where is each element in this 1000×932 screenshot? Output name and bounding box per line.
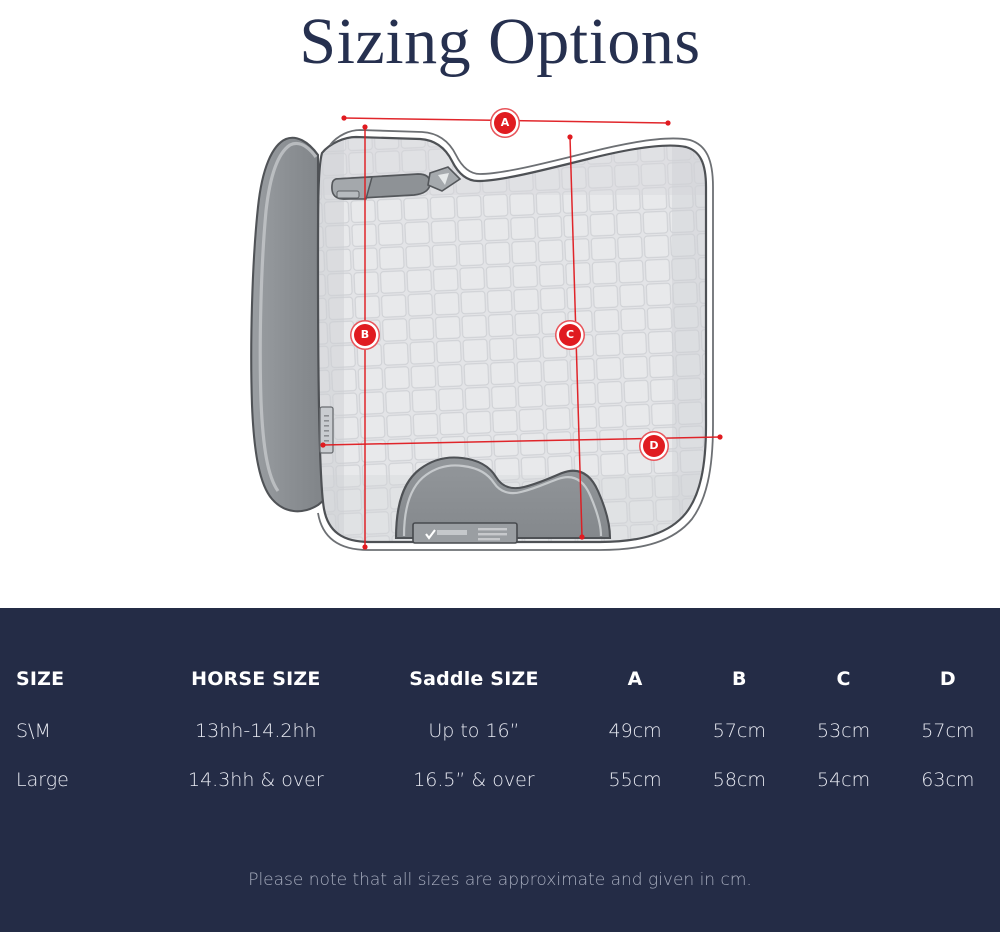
column-header-size: SIZE [0,668,147,720]
size-table-section: SIZE HORSE SIZE Saddle SIZE A B C D S\M … [0,608,1000,932]
cell-a: 49cm [583,720,687,769]
table-header-row: SIZE HORSE SIZE Saddle SIZE A B C D [0,668,1000,720]
column-header-c: C [791,668,895,720]
cell-c: 54cm [791,769,895,818]
cell-saddle-size: Up to 16” [365,720,583,769]
column-header-d: D [896,668,1000,720]
measurement-marker-d: D [643,435,665,457]
table-row: Large 14.3hh & over 16.5” & over 55cm 58… [0,769,1000,818]
cell-horse-size: 13hh-14.2hh [147,720,365,769]
cell-size: S\M [0,720,147,769]
cell-saddle-size: 16.5” & over [365,769,583,818]
page-title: Sizing Options [0,0,1000,88]
table-footnote: Please note that all sizes are approxima… [0,870,1000,890]
saddle-pad-diagram [0,95,1000,605]
cell-c: 53cm [791,720,895,769]
pad-brand-mark [512,571,536,605]
cell-b: 58cm [687,769,791,818]
cell-d: 63cm [896,769,1000,818]
cell-d: 57cm [896,720,1000,769]
sizing-options-page: Sizing Options [0,0,1000,932]
column-header-a: A [583,668,687,720]
measurement-marker-b: B [354,324,376,346]
cell-horse-size: 14.3hh & over [147,769,365,818]
column-header-b: B [687,668,791,720]
pad-billet-keeper [332,174,430,199]
measurement-marker-c: C [559,324,581,346]
table-row: S\M 13hh-14.2hh Up to 16” 49cm 57cm 53cm… [0,720,1000,769]
diagram-section: Sizing Options [0,0,1000,608]
column-header-saddle-size: Saddle SIZE [365,668,583,720]
size-table: SIZE HORSE SIZE Saddle SIZE A B C D S\M … [0,668,1000,818]
pad-care-label [413,523,517,543]
column-header-horse-size: HORSE SIZE [147,668,365,720]
cell-a: 55cm [583,769,687,818]
measurement-marker-a: A [494,112,516,134]
cell-size: Large [0,769,147,818]
cell-b: 57cm [687,720,791,769]
